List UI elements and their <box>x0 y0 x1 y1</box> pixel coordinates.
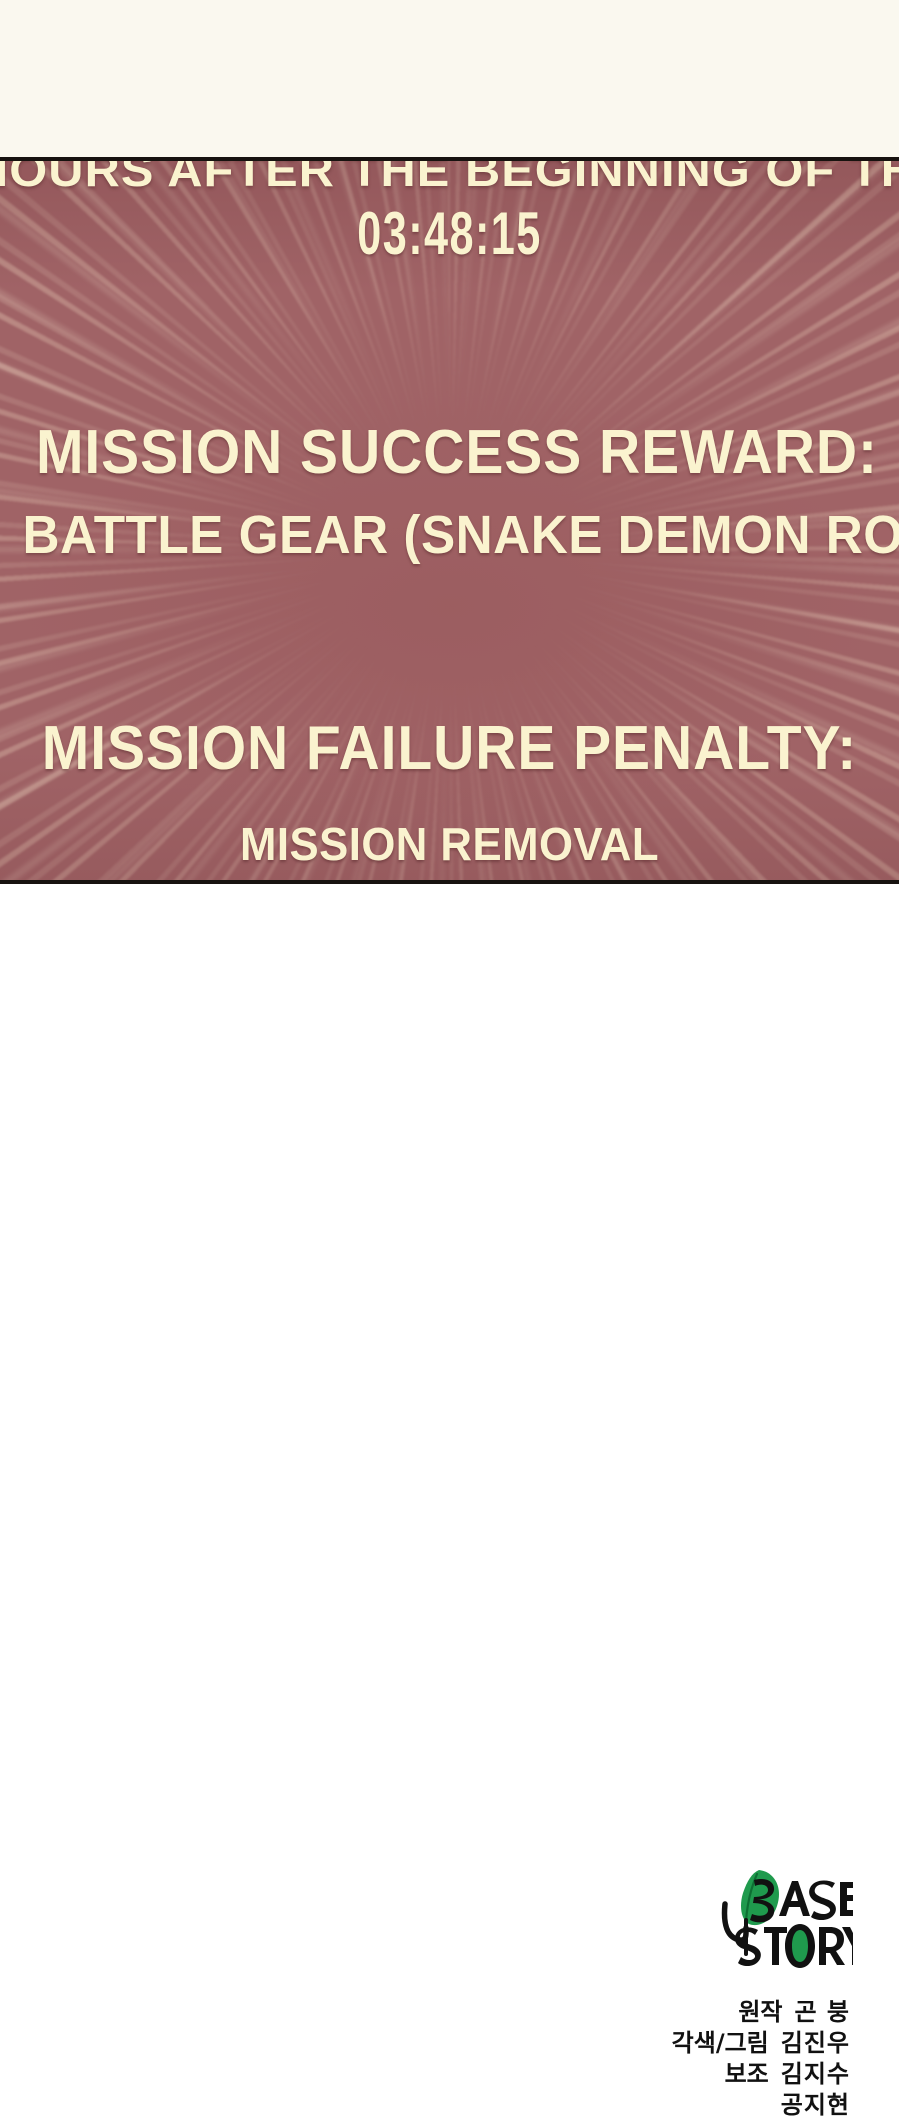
mission-success-reward-value: BATTLE GEAR (SNAKE DEMON ROBE). <box>22 504 876 566</box>
credit-role: 각색/그림 <box>672 2029 769 2057</box>
credit-name: 곤 붕 <box>794 1998 850 2026</box>
mission-failure-penalty-value: MISSION REMOVAL <box>22 817 876 871</box>
battle-elapsed-headline: HOURS AFTER THE BEGINNING OF THE BATTLE <box>0 157 899 197</box>
mission-failure-penalty-label: MISSION FAILURE PENALTY: <box>36 713 863 784</box>
base-story-logo <box>713 1862 853 1970</box>
credit-role: 보조 <box>725 2060 769 2088</box>
credit-name: 김진우 <box>781 2029 850 2057</box>
credit-name: 김지수 <box>781 2060 850 2088</box>
credits-area: 원작곤 붕 각색/그림김진우 보조김지수 공지현 <box>0 884 899 1336</box>
top-margin-strip <box>0 0 899 157</box>
credit-role: 원작 <box>738 1998 782 2026</box>
credit-row: 원작곤 붕 <box>672 1997 850 2028</box>
credit-row: 각색/그림김진우 <box>672 2028 850 2059</box>
logo-word-story <box>735 1924 853 1968</box>
credit-row: 공지현 <box>672 2090 850 2121</box>
mission-success-reward-label: MISSION SUCCESS REWARD: <box>36 417 863 488</box>
base-story-logo-svg <box>713 1862 853 1970</box>
countdown-timer: 03:48:15 <box>126 199 773 268</box>
comic-panel: HOURS AFTER THE BEGINNING OF THE BATTLE … <box>0 157 899 884</box>
credit-row: 보조김지수 <box>672 2059 850 2090</box>
credits-list: 원작곤 붕 각색/그림김진우 보조김지수 공지현 <box>672 1997 850 2121</box>
credit-name: 공지현 <box>781 2091 850 2119</box>
